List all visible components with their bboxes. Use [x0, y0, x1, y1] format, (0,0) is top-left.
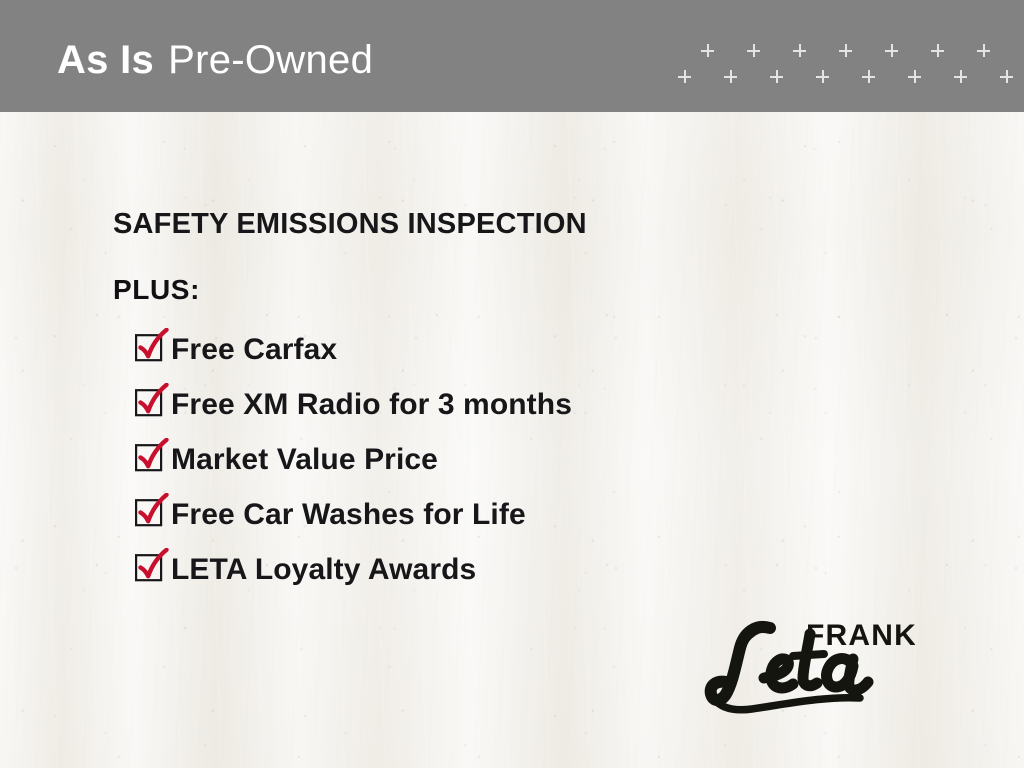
- slide: As IsPre-Owned SAFETY EMISSIONS INSPECTI…: [0, 0, 1024, 768]
- plus-icon: [954, 70, 967, 83]
- plus-decoration-group: [672, 38, 1012, 96]
- plus-icon: [793, 44, 806, 57]
- list-item: Market Value Price: [113, 432, 833, 487]
- list-item-label: Free Car Washes for Life: [171, 498, 526, 532]
- plus-icon: [816, 70, 829, 83]
- plus-icon: [770, 70, 783, 83]
- plus-heading: PLUS:: [113, 274, 833, 306]
- header-bar: As IsPre-Owned: [0, 0, 1024, 112]
- list-item: Free Carfax: [113, 322, 833, 377]
- plus-icon: [678, 70, 691, 83]
- plus-icon: [724, 70, 737, 83]
- list-item-label: Free Carfax: [171, 333, 337, 367]
- list-item: LETA Loyalty Awards: [113, 542, 833, 597]
- page-title-strong: As Is: [57, 38, 154, 82]
- page-title-light: Pre-Owned: [168, 38, 373, 82]
- plus-icon: [1000, 70, 1013, 83]
- checked-checkbox-icon: [135, 548, 169, 582]
- plus-icon: [931, 44, 944, 57]
- checked-checkbox-icon: [135, 383, 169, 417]
- checked-checkbox-icon: [135, 328, 169, 362]
- plus-icon: [908, 70, 921, 83]
- headline-text: SAFETY EMISSIONS INSPECTION: [113, 206, 833, 242]
- list-item: Free XM Radio for 3 months: [113, 377, 833, 432]
- content-area: SAFETY EMISSIONS INSPECTION PLUS: Free C…: [113, 206, 833, 597]
- logo-frank-text: FRANK: [806, 619, 915, 652]
- frank-leta-logo: FRANK: [700, 604, 915, 719]
- plus-icon: [862, 70, 875, 83]
- plus-icon: [701, 44, 714, 57]
- plus-icon: [839, 44, 852, 57]
- list-item-label: Market Value Price: [171, 443, 438, 477]
- plus-icon: [747, 44, 760, 57]
- list-item: Free Car Washes for Life: [113, 487, 833, 542]
- page-title: As IsPre-Owned: [57, 38, 373, 82]
- checked-checkbox-icon: [135, 438, 169, 472]
- list-item-label: LETA Loyalty Awards: [171, 553, 476, 587]
- plus-icon: [977, 44, 990, 57]
- plus-icon: [885, 44, 898, 57]
- list-item-label: Free XM Radio for 3 months: [171, 388, 572, 422]
- benefits-list: Free Carfax Free XM Radio for 3 months: [113, 322, 833, 597]
- checked-checkbox-icon: [135, 493, 169, 527]
